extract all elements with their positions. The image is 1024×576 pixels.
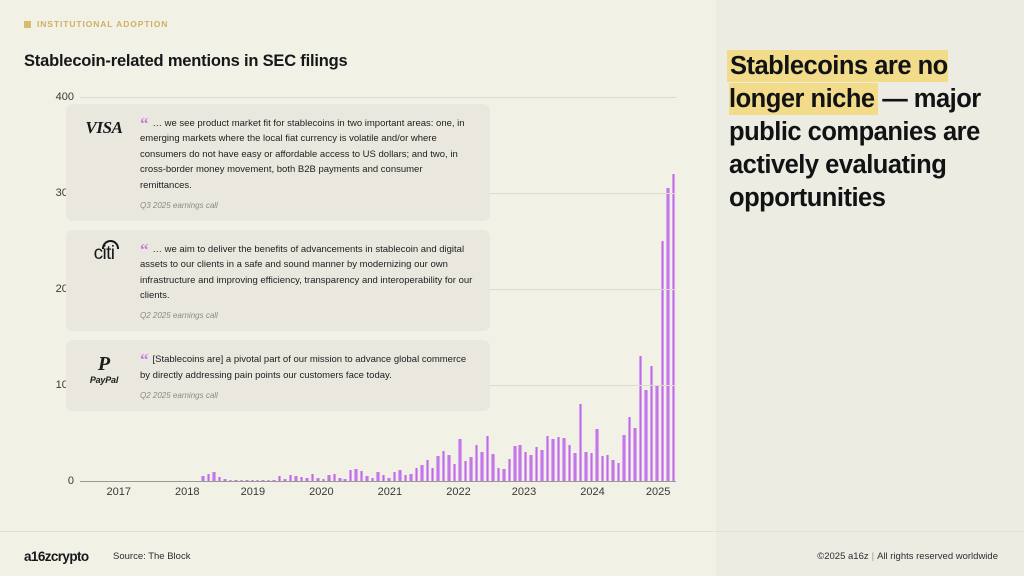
bar[interactable] <box>666 188 670 481</box>
bar[interactable] <box>360 471 364 481</box>
bar[interactable] <box>628 417 632 481</box>
bar[interactable] <box>650 366 654 481</box>
bar[interactable] <box>497 468 501 481</box>
bar[interactable] <box>562 438 566 481</box>
x-tick-label: 2025 <box>646 486 670 498</box>
bar[interactable] <box>590 453 594 481</box>
bar[interactable] <box>551 439 555 481</box>
bar[interactable] <box>672 174 676 481</box>
bar[interactable] <box>491 454 495 481</box>
bar[interactable] <box>518 445 522 481</box>
x-tick-label: 2018 <box>175 486 199 498</box>
bar[interactable] <box>639 356 643 481</box>
quote-card: citi“… we aim to deliver the benefits of… <box>66 230 490 332</box>
bar[interactable] <box>557 437 561 481</box>
bar[interactable] <box>480 452 484 481</box>
footer-divider <box>0 531 1024 532</box>
headline: Stablecoins are no longer niche — major … <box>729 50 1019 214</box>
bar[interactable] <box>508 459 512 481</box>
citi-wordmark: citi <box>94 244 115 263</box>
quote-text: “… we see product market fit for stablec… <box>140 116 476 193</box>
gridline-0 <box>80 481 676 482</box>
x-tick-label: 2022 <box>446 486 470 498</box>
quote-mark-icon: “ <box>140 352 149 367</box>
bar[interactable] <box>661 241 665 481</box>
slide-root: INSTITUTIONAL ADOPTION Stablecoin-relate… <box>0 0 1024 576</box>
bar[interactable] <box>601 456 605 481</box>
quote-body: “… we see product market fit for stablec… <box>140 116 476 210</box>
paypal-mark-icon: P <box>98 354 110 374</box>
x-tick-label: 2024 <box>580 486 604 498</box>
bar[interactable] <box>535 447 539 481</box>
bar[interactable] <box>502 469 506 481</box>
eyebrow-label: INSTITUTIONAL ADOPTION <box>37 19 168 29</box>
x-tick-label: 2023 <box>512 486 536 498</box>
bar[interactable] <box>655 385 659 481</box>
bar[interactable] <box>333 474 337 481</box>
bar[interactable] <box>486 436 490 481</box>
visa-logo: VISA <box>78 116 130 138</box>
copyright-left: ©2025 a16z <box>817 551 868 562</box>
citi-logo: citi <box>78 242 130 263</box>
bar[interactable] <box>513 446 517 481</box>
copyright-separator: | <box>872 551 874 562</box>
bar[interactable] <box>611 460 615 481</box>
bar[interactable] <box>376 472 380 481</box>
brand-logo: a16zcrypto <box>24 549 89 564</box>
bar[interactable] <box>447 455 451 481</box>
bar[interactable] <box>207 474 211 481</box>
bar[interactable] <box>398 470 402 481</box>
x-tick-label: 2019 <box>241 486 265 498</box>
bar[interactable] <box>579 404 583 481</box>
bar[interactable] <box>595 429 599 481</box>
quote-source: Q3 2025 earnings call <box>140 201 476 210</box>
bar[interactable] <box>573 453 577 481</box>
bar[interactable] <box>568 445 572 481</box>
paypal-logo: PPayPal <box>78 352 130 385</box>
quote-card-list: VISA“… we see product market fit for sta… <box>66 104 490 420</box>
x-tick-label: 2017 <box>106 486 130 498</box>
bar[interactable] <box>633 428 637 481</box>
quote-body: “… we aim to deliver the benefits of adv… <box>140 242 476 321</box>
headline-panel: Stablecoins are no longer niche — major … <box>716 0 1024 576</box>
bar[interactable] <box>311 474 315 481</box>
bar[interactable] <box>529 455 533 481</box>
bar[interactable] <box>617 463 621 481</box>
quote-body: “[Stablecoins are] a pivotal part of our… <box>140 352 476 400</box>
copyright: ©2025 a16z|All rights reserved worldwide <box>817 551 998 562</box>
bar[interactable] <box>622 435 626 481</box>
source-label: Source: The Block <box>113 551 190 562</box>
x-tick-label: 2020 <box>309 486 333 498</box>
square-bullet-icon <box>24 21 31 28</box>
bar[interactable] <box>436 456 440 481</box>
bar[interactable] <box>426 460 430 481</box>
quote-source: Q2 2025 earnings call <box>140 311 476 320</box>
bar[interactable] <box>458 439 462 481</box>
bar[interactable] <box>442 451 446 481</box>
bar[interactable] <box>606 455 610 481</box>
citi-arc-icon <box>102 240 119 249</box>
bar[interactable] <box>453 464 457 481</box>
bar[interactable] <box>393 472 397 481</box>
quote-text: “… we aim to deliver the benefits of adv… <box>140 242 476 304</box>
y-tick-label: 400 <box>56 91 74 103</box>
bar[interactable] <box>431 468 435 481</box>
bar[interactable] <box>540 450 544 481</box>
quote-source: Q2 2025 earnings call <box>140 391 476 400</box>
bar[interactable] <box>584 452 588 481</box>
copyright-right: All rights reserved worldwide <box>877 551 998 562</box>
bar[interactable] <box>349 470 353 481</box>
page-title: Stablecoin-related mentions in SEC filin… <box>24 52 348 71</box>
quote-mark-icon: “ <box>140 116 149 131</box>
bar[interactable] <box>464 461 468 481</box>
paypal-wordmark: PayPal <box>90 375 118 385</box>
bar[interactable] <box>212 472 216 481</box>
bar[interactable] <box>409 474 413 481</box>
bar[interactable] <box>469 457 473 481</box>
bar[interactable] <box>475 445 479 481</box>
bar[interactable] <box>524 452 528 481</box>
bar[interactable] <box>546 436 550 481</box>
x-axis: 201720182019202020212022202320242025 <box>80 486 676 506</box>
quote-text: “[Stablecoins are] a pivotal part of our… <box>140 352 476 383</box>
y-tick-label: 0 <box>68 475 74 487</box>
quote-card: PPayPal“[Stablecoins are] a pivotal part… <box>66 340 490 411</box>
visa-wordmark: VISA <box>85 118 122 138</box>
eyebrow: INSTITUTIONAL ADOPTION <box>24 19 168 29</box>
quote-mark-icon: “ <box>140 242 149 257</box>
bar[interactable] <box>354 469 358 481</box>
x-tick-label: 2021 <box>378 486 402 498</box>
gridline-400 <box>80 97 676 98</box>
chart-panel: INSTITUTIONAL ADOPTION Stablecoin-relate… <box>0 0 700 576</box>
quote-card: VISA“… we see product market fit for sta… <box>66 104 490 221</box>
bar[interactable] <box>644 390 648 481</box>
bar[interactable] <box>415 468 419 481</box>
bar[interactable] <box>420 465 424 481</box>
